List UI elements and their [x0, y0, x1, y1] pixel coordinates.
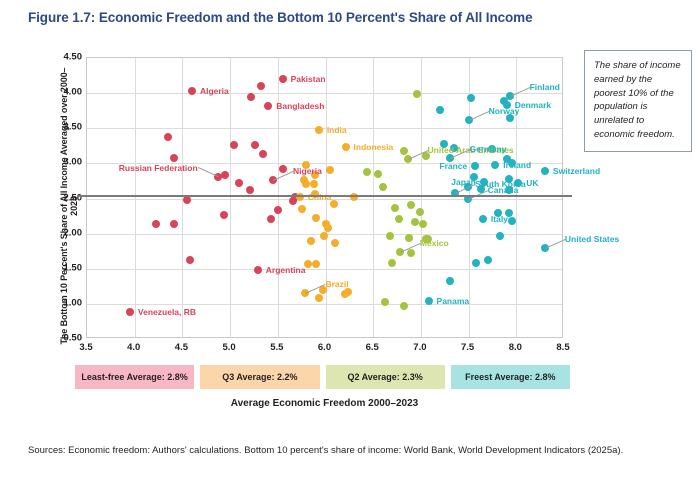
label-leader-line — [469, 111, 489, 121]
x-tick-label: 6.5 — [352, 342, 392, 353]
point-label: Algeria — [200, 86, 229, 96]
data-point — [247, 93, 255, 101]
data-point — [471, 162, 479, 170]
data-point — [279, 165, 287, 173]
label-leader-line — [545, 239, 565, 249]
point-label: France — [439, 161, 467, 171]
data-point — [407, 249, 415, 257]
quartile-average-box-1: Least-free Average: 2.8% — [75, 365, 194, 389]
data-point — [164, 133, 172, 141]
point-label: Brazil — [325, 279, 348, 289]
data-point — [496, 232, 504, 240]
data-point — [152, 220, 160, 228]
data-point — [230, 141, 238, 149]
data-point — [391, 204, 399, 212]
gridline-horizontal — [87, 128, 562, 129]
y-axis-title: The Bottom 10 Percent's Share of All Inc… — [59, 61, 79, 351]
data-point — [436, 106, 444, 114]
gridline-vertical — [421, 58, 422, 337]
data-point — [310, 180, 318, 188]
x-axis-title: Average Economic Freedom 2000–2023 — [86, 398, 563, 409]
data-point — [541, 167, 549, 175]
data-point — [425, 297, 433, 305]
x-tick-label: 6.0 — [305, 342, 345, 353]
data-point — [446, 277, 454, 285]
data-point — [416, 208, 424, 216]
gridline-horizontal — [87, 304, 562, 305]
x-tick-label: 5.5 — [257, 342, 297, 353]
point-label: Finland — [530, 82, 560, 92]
quartile-average-box-2: Q3 Average: 2.2% — [200, 365, 319, 389]
data-point — [126, 308, 134, 316]
data-point — [307, 237, 315, 245]
quartile-average-legend: Least-free Average: 2.8%Q3 Average: 2.2%… — [75, 365, 570, 389]
x-tick-label: 8.5 — [543, 342, 583, 353]
data-point — [298, 205, 306, 213]
data-point — [257, 82, 265, 90]
data-point — [381, 298, 389, 306]
quartile-average-box-3: Q2 Average: 2.3% — [326, 365, 445, 389]
point-label: Germany — [470, 144, 507, 154]
data-point — [254, 266, 262, 274]
data-point — [484, 256, 492, 264]
point-label: Panama — [437, 296, 470, 306]
gridline-horizontal — [87, 269, 562, 270]
data-point — [388, 259, 396, 267]
data-point — [407, 201, 415, 209]
gridline-vertical — [135, 58, 136, 337]
data-point — [170, 220, 178, 228]
point-label: Mexico — [420, 238, 449, 248]
quartile-average-box-4: Freest Average: 2.8% — [451, 365, 570, 389]
x-tick-label: 7.5 — [448, 342, 488, 353]
data-point — [379, 183, 387, 191]
data-point — [246, 186, 254, 194]
data-point — [331, 239, 339, 247]
gridline-vertical — [278, 58, 279, 337]
data-point — [267, 215, 275, 223]
gridline-vertical — [373, 58, 374, 337]
point-label: Argentina — [266, 265, 306, 275]
data-point — [274, 206, 282, 214]
point-label: Italy — [491, 214, 508, 224]
point-label: Nigeria — [293, 166, 322, 176]
data-point — [472, 259, 480, 267]
data-point — [312, 214, 320, 222]
x-axis-ticks: 3.54.04.55.05.56.06.57.07.58.08.5 — [86, 342, 563, 358]
data-point — [342, 143, 350, 151]
callout-note: The share of income earned by the poores… — [584, 50, 692, 152]
data-point — [419, 220, 427, 228]
point-label: India — [327, 125, 347, 135]
data-point — [411, 218, 419, 226]
point-label: Russian Federation — [119, 163, 198, 173]
data-point — [188, 87, 196, 95]
data-point — [479, 215, 487, 223]
data-point — [324, 224, 332, 232]
data-point — [264, 102, 272, 110]
data-point — [312, 260, 320, 268]
point-label: Switzerland — [553, 166, 600, 176]
data-point — [320, 232, 328, 240]
mean-reference-line — [77, 195, 572, 198]
point-label: Ireland — [503, 160, 531, 170]
data-point — [386, 232, 394, 240]
data-point — [315, 294, 323, 302]
data-point — [186, 256, 194, 264]
data-point — [279, 75, 287, 83]
x-tick-label: 4.0 — [114, 342, 154, 353]
point-label: UK — [526, 178, 538, 188]
gridline-horizontal — [87, 93, 562, 94]
data-point — [315, 126, 323, 134]
x-tick-label: 5.0 — [209, 342, 249, 353]
sources-note: Sources: Economic freedom: Authors' calc… — [28, 444, 668, 458]
point-label: Denmark — [515, 100, 551, 110]
x-tick-label: 4.5 — [161, 342, 201, 353]
x-tick-label: 3.5 — [66, 342, 106, 353]
point-label: Canada — [488, 185, 519, 195]
label-leader-line — [510, 87, 530, 97]
point-label: United States — [565, 234, 619, 244]
point-label: Venezuela, RB — [138, 307, 196, 317]
data-point — [400, 147, 408, 155]
data-point — [344, 288, 352, 296]
data-point — [491, 161, 499, 169]
data-point — [220, 211, 228, 219]
data-point — [413, 90, 421, 98]
point-label: Norway — [489, 106, 520, 116]
label-leader-line — [198, 167, 218, 177]
data-point — [363, 168, 371, 176]
data-point — [170, 154, 178, 162]
point-label: Bangladesh — [276, 101, 324, 111]
gridline-vertical — [230, 58, 231, 337]
data-point — [395, 215, 403, 223]
data-point — [400, 302, 408, 310]
x-tick-label: 8.0 — [495, 342, 535, 353]
point-label: Indonesia — [354, 142, 394, 152]
data-point — [235, 179, 243, 187]
data-point — [326, 166, 334, 174]
data-point — [467, 94, 475, 102]
data-point — [259, 150, 267, 158]
data-point — [251, 141, 259, 149]
page-title: Figure 1.7: Economic Freedom and the Bot… — [28, 10, 668, 25]
data-point — [374, 170, 382, 178]
point-label: Pakistan — [291, 74, 326, 84]
data-point — [508, 217, 516, 225]
scatter-plot: AlgeriaPakistanBangladeshRussian Federat… — [86, 57, 563, 338]
data-point — [405, 234, 413, 242]
x-tick-label: 7.0 — [400, 342, 440, 353]
data-point — [221, 171, 229, 179]
